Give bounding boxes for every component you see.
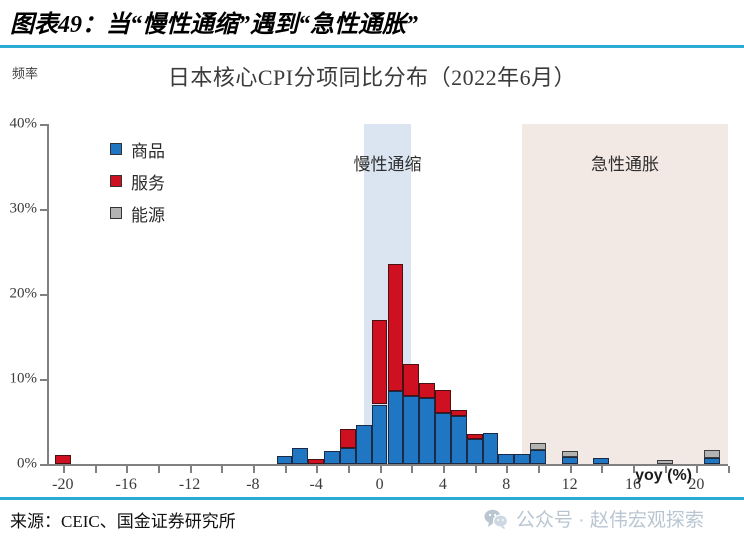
x-tick [126,466,128,473]
x-tick [158,466,160,473]
bar-segment-goods [403,396,419,464]
y-tick [40,294,47,296]
bar-segment-services [55,455,71,464]
x-tick-label: -12 [179,476,200,494]
bar-segment-goods [324,451,340,464]
band-acute-inflation [522,124,728,464]
x-tick [190,466,192,473]
x-tick-label: 0 [376,476,384,494]
y-tick [40,124,47,126]
legend-swatch-services [110,175,122,187]
bar-segment-services [451,410,467,415]
source-note: 来源：CEIC、国金证券研究所 [10,507,236,532]
bar-segment-services [435,390,451,413]
x-tick [95,466,97,473]
figure-root: 图表49：当“慢性通缩”遇到“急性通胀” 频率 日本核心CPI分项同比分布（20… [0,0,744,542]
bar-segment-goods [514,454,530,464]
x-axis-line [47,464,728,466]
y-tick [40,379,47,381]
bar-segment-services [467,434,483,438]
bar-segment-goods [388,391,404,464]
footer-divider [0,497,744,500]
legend-item-goods: 商品 [110,133,165,165]
y-tick [40,464,47,466]
bar-segment-goods [277,456,293,464]
legend-item-services: 服务 [110,165,165,197]
bar-segment-goods [292,448,308,464]
x-tick-label: -8 [246,476,259,494]
bar-segment-goods [530,450,546,464]
bar-segment-goods [593,458,609,464]
watermark: 公众号 · 赵伟宏观探索 [484,505,704,532]
bar-segment-goods [483,433,499,464]
wechat-icon [484,509,508,529]
bar-segment-goods [704,458,720,464]
legend-label-energy: 能源 [131,201,165,226]
x-tick [696,466,698,473]
x-tick-label: 20 [688,476,704,494]
x-tick [570,466,572,473]
y-tick-label: 40% [10,116,38,133]
x-tick [538,466,540,473]
bar-segment-goods [435,413,451,464]
bar-segment-goods [562,457,578,464]
y-tick-label: 10% [10,371,38,388]
bar-segment-services [372,320,388,404]
x-tick [221,466,223,473]
chart-area: 频率 日本核心CPI分项同比分布（2022年6月） yoy (%) 0%10%2… [0,48,744,495]
x-tick [285,466,287,473]
x-tick [316,466,318,473]
bar-segment-energy [657,460,673,464]
legend: 商品 服务 能源 [110,133,165,229]
bar-segment-goods [467,439,483,465]
watermark-text: 公众号 · 赵伟宏观探索 [516,505,704,532]
legend-swatch-energy [110,207,122,219]
bar-segment-services [340,429,356,448]
x-tick [475,466,477,473]
x-tick-label: -20 [52,476,73,494]
y-axis-line [47,124,49,465]
figure-title: 图表49：当“慢性通缩”遇到“急性通胀” [10,4,418,39]
x-tick-label: -16 [116,476,137,494]
bar-segment-energy [704,450,720,459]
y-tick-label: 0% [17,456,37,473]
band-label-chronic-deflation: 慢性通缩 [354,150,422,175]
legend-label-goods: 商品 [131,137,165,162]
bar-segment-goods [451,416,467,464]
bar-segment-services [388,264,404,391]
x-tick [728,466,730,473]
bar-segment-services [403,364,419,396]
chart-title: 日本核心CPI分项同比分布（2022年6月） [0,60,744,92]
x-tick [380,466,382,473]
bar-segment-services [419,383,435,397]
x-tick-label: 4 [439,476,447,494]
x-tick [506,466,508,473]
bar-segment-energy [530,443,546,451]
x-tick [253,466,255,473]
y-tick-label: 20% [10,286,38,303]
x-tick-label: 8 [502,476,510,494]
band-label-acute-inflation: 急性通胀 [591,150,659,175]
x-tick [601,466,603,473]
legend-swatch-goods [110,143,122,155]
x-tick [411,466,413,473]
legend-item-energy: 能源 [110,197,165,229]
x-tick [665,466,667,473]
x-tick-label: -4 [310,476,323,494]
bar-segment-goods [372,405,388,465]
y-tick [40,209,47,211]
y-tick-label: 30% [10,201,38,218]
bar-segment-goods [498,454,514,464]
x-tick [348,466,350,473]
bar-segment-goods [340,448,356,464]
bar-segment-goods [356,425,372,464]
x-tick-label: 12 [562,476,578,494]
legend-label-services: 服务 [131,169,165,194]
x-tick [443,466,445,473]
bar-segment-services [308,459,324,464]
x-axis-unit-label: yoy (%) [635,467,692,485]
x-tick-label: 16 [625,476,641,494]
x-tick [633,466,635,473]
x-tick [63,466,65,473]
bar-segment-energy [562,451,578,457]
bar-segment-goods [419,398,435,464]
